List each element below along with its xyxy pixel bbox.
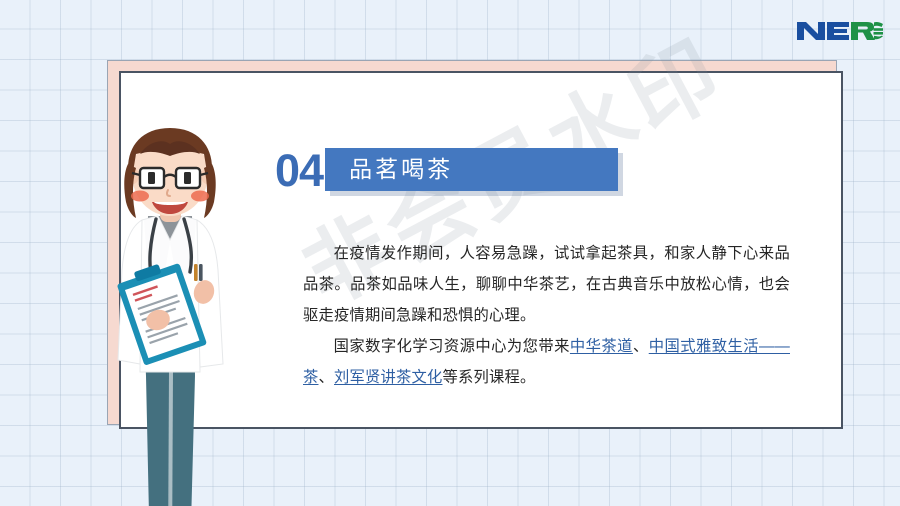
paragraph-2: 国家数字化学习资源中心为您带来中华茶道、中国式雅致生活——茶、刘军贤讲茶文化等系… (303, 331, 790, 393)
title-band-wrapper: 品茗喝茶 (325, 148, 618, 191)
nerc-logo (797, 19, 883, 43)
eye-left (148, 172, 155, 184)
separator-1: 、 (633, 338, 649, 355)
cheek-left (131, 191, 149, 202)
section-number: 04 (275, 148, 323, 193)
section-title: 04 品茗喝茶 (275, 148, 618, 193)
paragraph-2-lead: 国家数字化学习资源中心为您带来 (334, 338, 570, 355)
link-zhonghua-chadao[interactable]: 中华茶道 (570, 338, 633, 355)
title-label: 品茗喝茶 (325, 158, 453, 181)
body-text-block: 在疫情发作期间，人容易急躁，试试拿起茶具，和家人静下心来品品茶。品茶如品味人生，… (303, 238, 790, 393)
separator-2: 、 (319, 369, 335, 386)
paragraph-1: 在疫情发作期间，人容易急躁，试试拿起茶具，和家人静下心来品品茶。品茶如品味人生，… (303, 238, 790, 331)
head (124, 128, 215, 218)
slide-canvas: 非会员水印 04 品茗喝茶 在疫情发作期间，人容易急躁，试试拿起茶具，和家人静下… (0, 0, 900, 506)
cheek-right (191, 191, 209, 202)
paragraph-2-tail: 等系列课程。 (442, 369, 535, 386)
title-band: 品茗喝茶 (325, 148, 618, 191)
doctor-illustration (96, 124, 246, 506)
link-liujunxian-jiang-chawenhua[interactable]: 刘军贤讲茶文化 (334, 369, 442, 386)
eye-right (184, 172, 191, 184)
